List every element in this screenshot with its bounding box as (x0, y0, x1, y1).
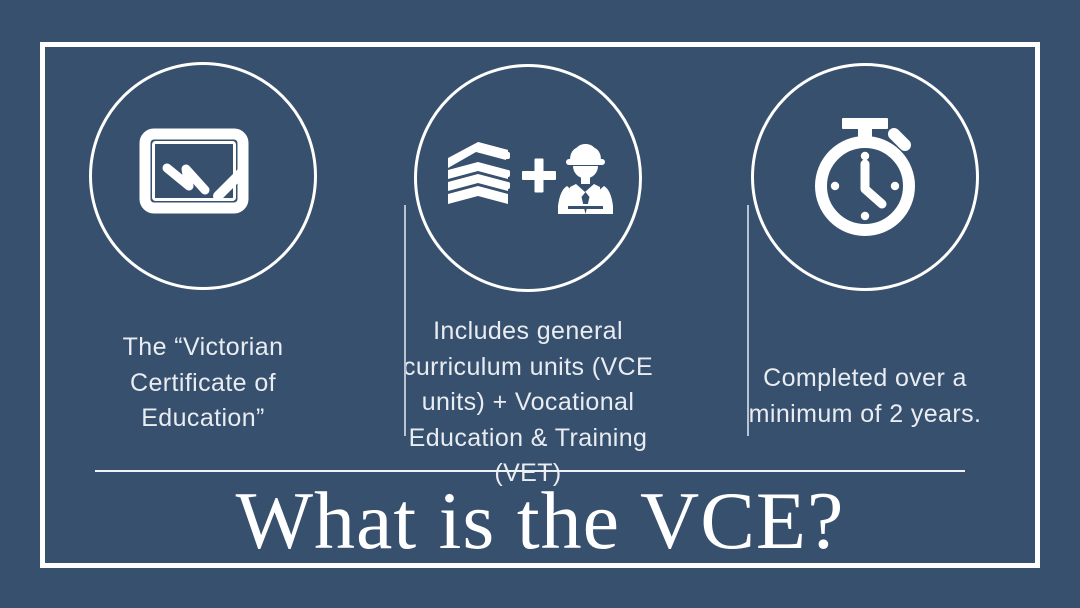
caption-certificate: The “Victorian Certificate of Education” (73, 330, 333, 437)
circle-duration (751, 63, 979, 291)
slide-canvas: The “Victorian Certificate of Education” (0, 0, 1080, 608)
construction-worker-icon (558, 144, 613, 214)
circle-vce-vet (414, 64, 642, 292)
title-separator-rule (95, 470, 965, 472)
column-vce-vet: Includes general curriculum units (VCE u… (358, 50, 698, 492)
column-divider-1 (404, 205, 406, 436)
circle-certificate (89, 62, 317, 290)
stopwatch-icon (805, 114, 925, 240)
plus-sign-icon (522, 159, 556, 193)
slide-title: What is the VCE? (0, 480, 1080, 562)
column-certificate: The “Victorian Certificate of Education” (48, 50, 358, 437)
three-column-group: The “Victorian Certificate of Education” (48, 50, 1032, 460)
column-divider-2 (747, 205, 749, 436)
caption-vce-vet: Includes general curriculum units (VCE u… (378, 314, 678, 492)
books-plus-worker-icon (440, 130, 616, 226)
book-stack-icon (448, 142, 510, 204)
certificate-signature-icon (139, 124, 267, 228)
caption-duration: Completed over a minimum of 2 years. (715, 361, 1015, 432)
